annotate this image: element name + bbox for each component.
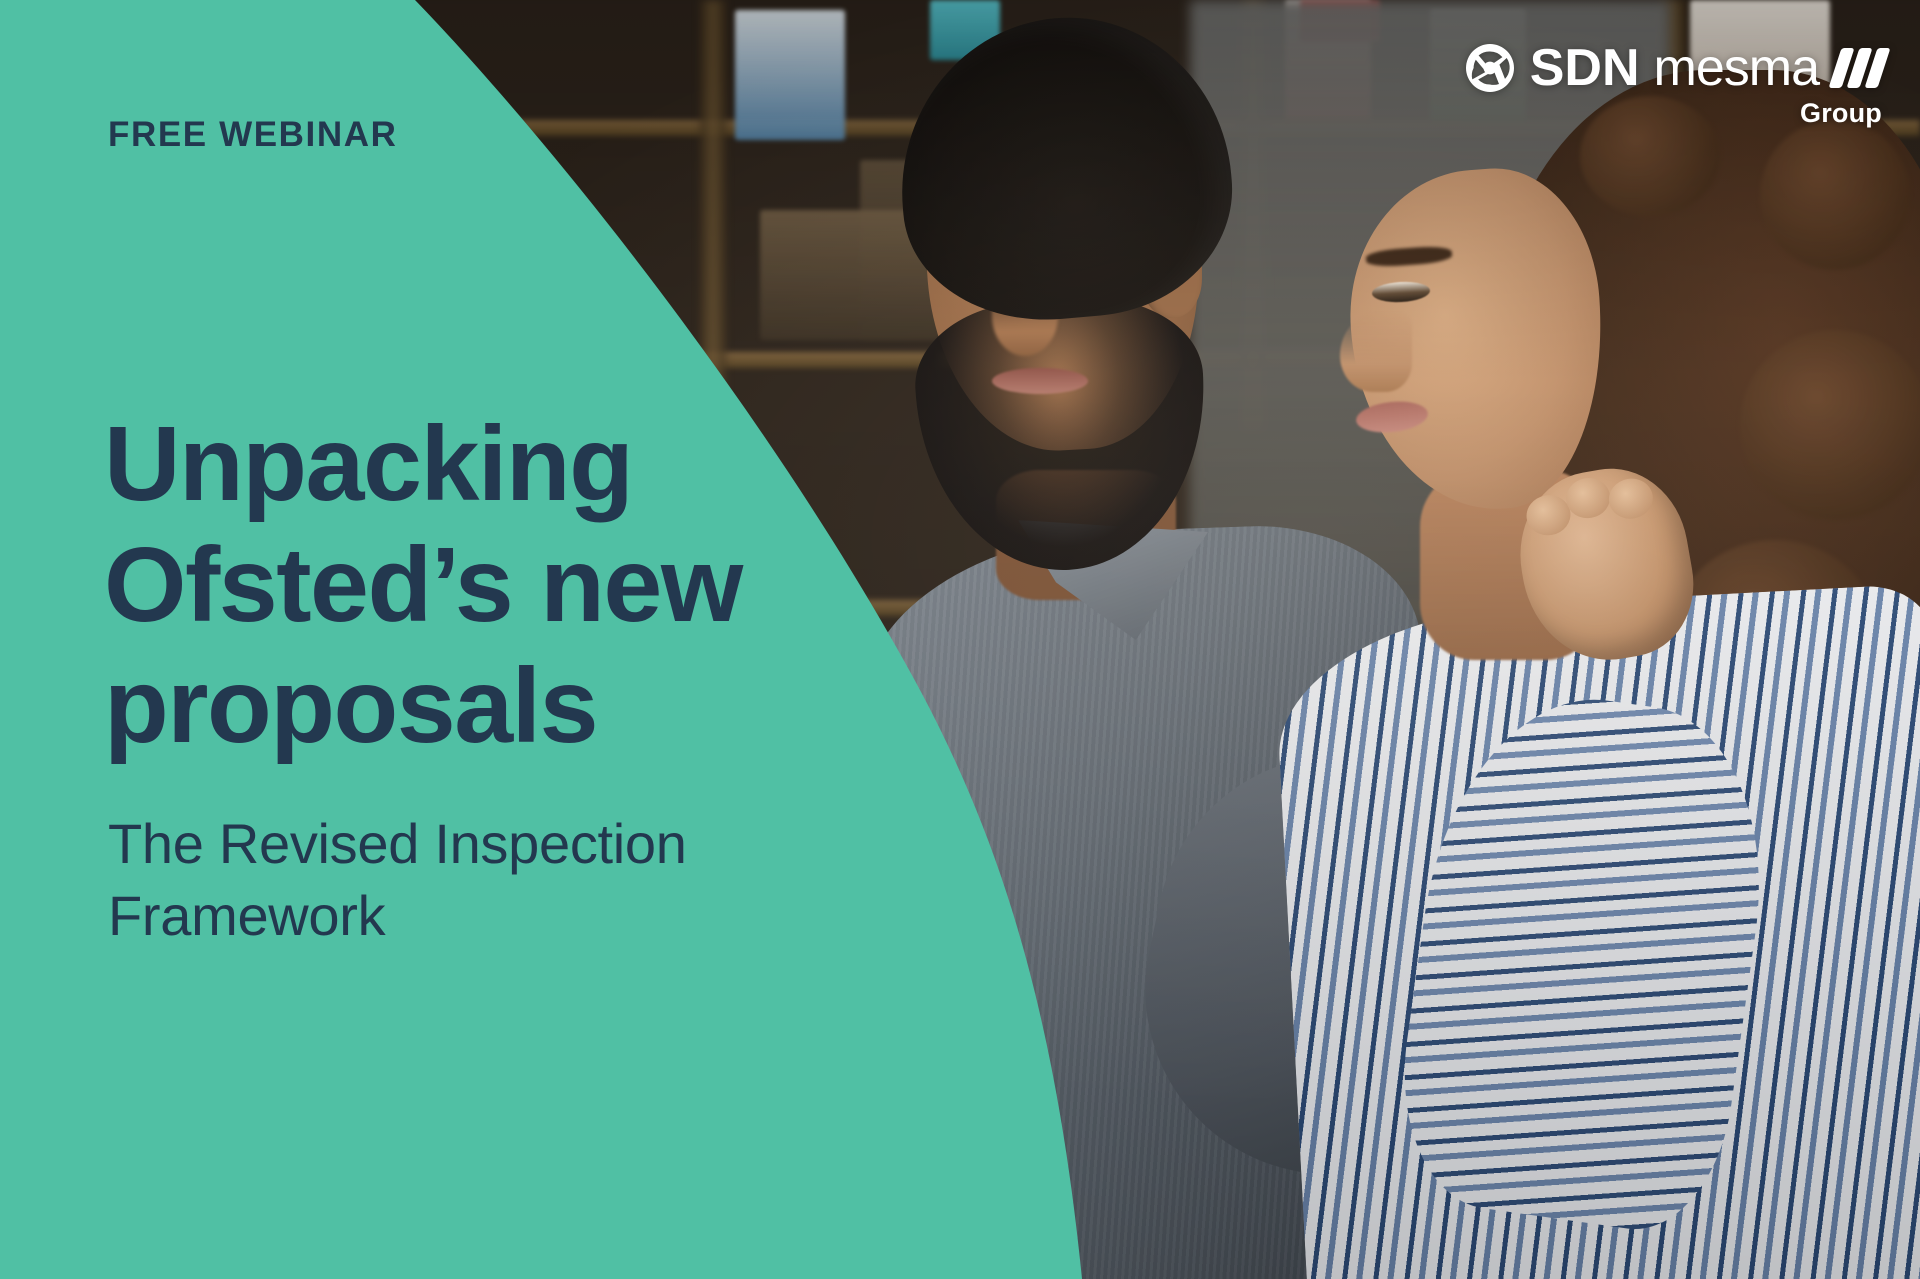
headline-line-2: Ofsted’s new	[104, 525, 924, 646]
subtitle-line-2: Framework	[108, 880, 868, 952]
page-title: Unpacking Ofsted’s new proposals	[104, 404, 924, 766]
webinar-promo-banner: FREE WEBINAR Unpacking Ofsted’s new prop…	[0, 0, 1920, 1279]
logo-subtitle: Group	[1800, 98, 1882, 129]
subtitle-line-1: The Revised Inspection	[108, 808, 868, 880]
brand-logo: SDN mesma Group	[1464, 42, 1884, 129]
eyebrow-label: FREE WEBINAR	[108, 115, 397, 155]
headline-line-3: proposals	[104, 646, 924, 767]
sdn-mesma-circle-mark	[1464, 42, 1516, 94]
headline-line-1: Unpacking	[104, 404, 924, 525]
three-slash-icon	[1835, 48, 1884, 88]
logo-primary-row: SDN mesma	[1464, 42, 1884, 94]
subtitle: The Revised Inspection Framework	[108, 808, 868, 951]
logo-word-mesma: mesma	[1654, 42, 1819, 94]
logo-word-sdn: SDN	[1530, 42, 1640, 94]
promo-content: FREE WEBINAR Unpacking Ofsted’s new prop…	[0, 0, 1920, 1279]
logo-wordmark: SDN mesma	[1530, 42, 1819, 94]
